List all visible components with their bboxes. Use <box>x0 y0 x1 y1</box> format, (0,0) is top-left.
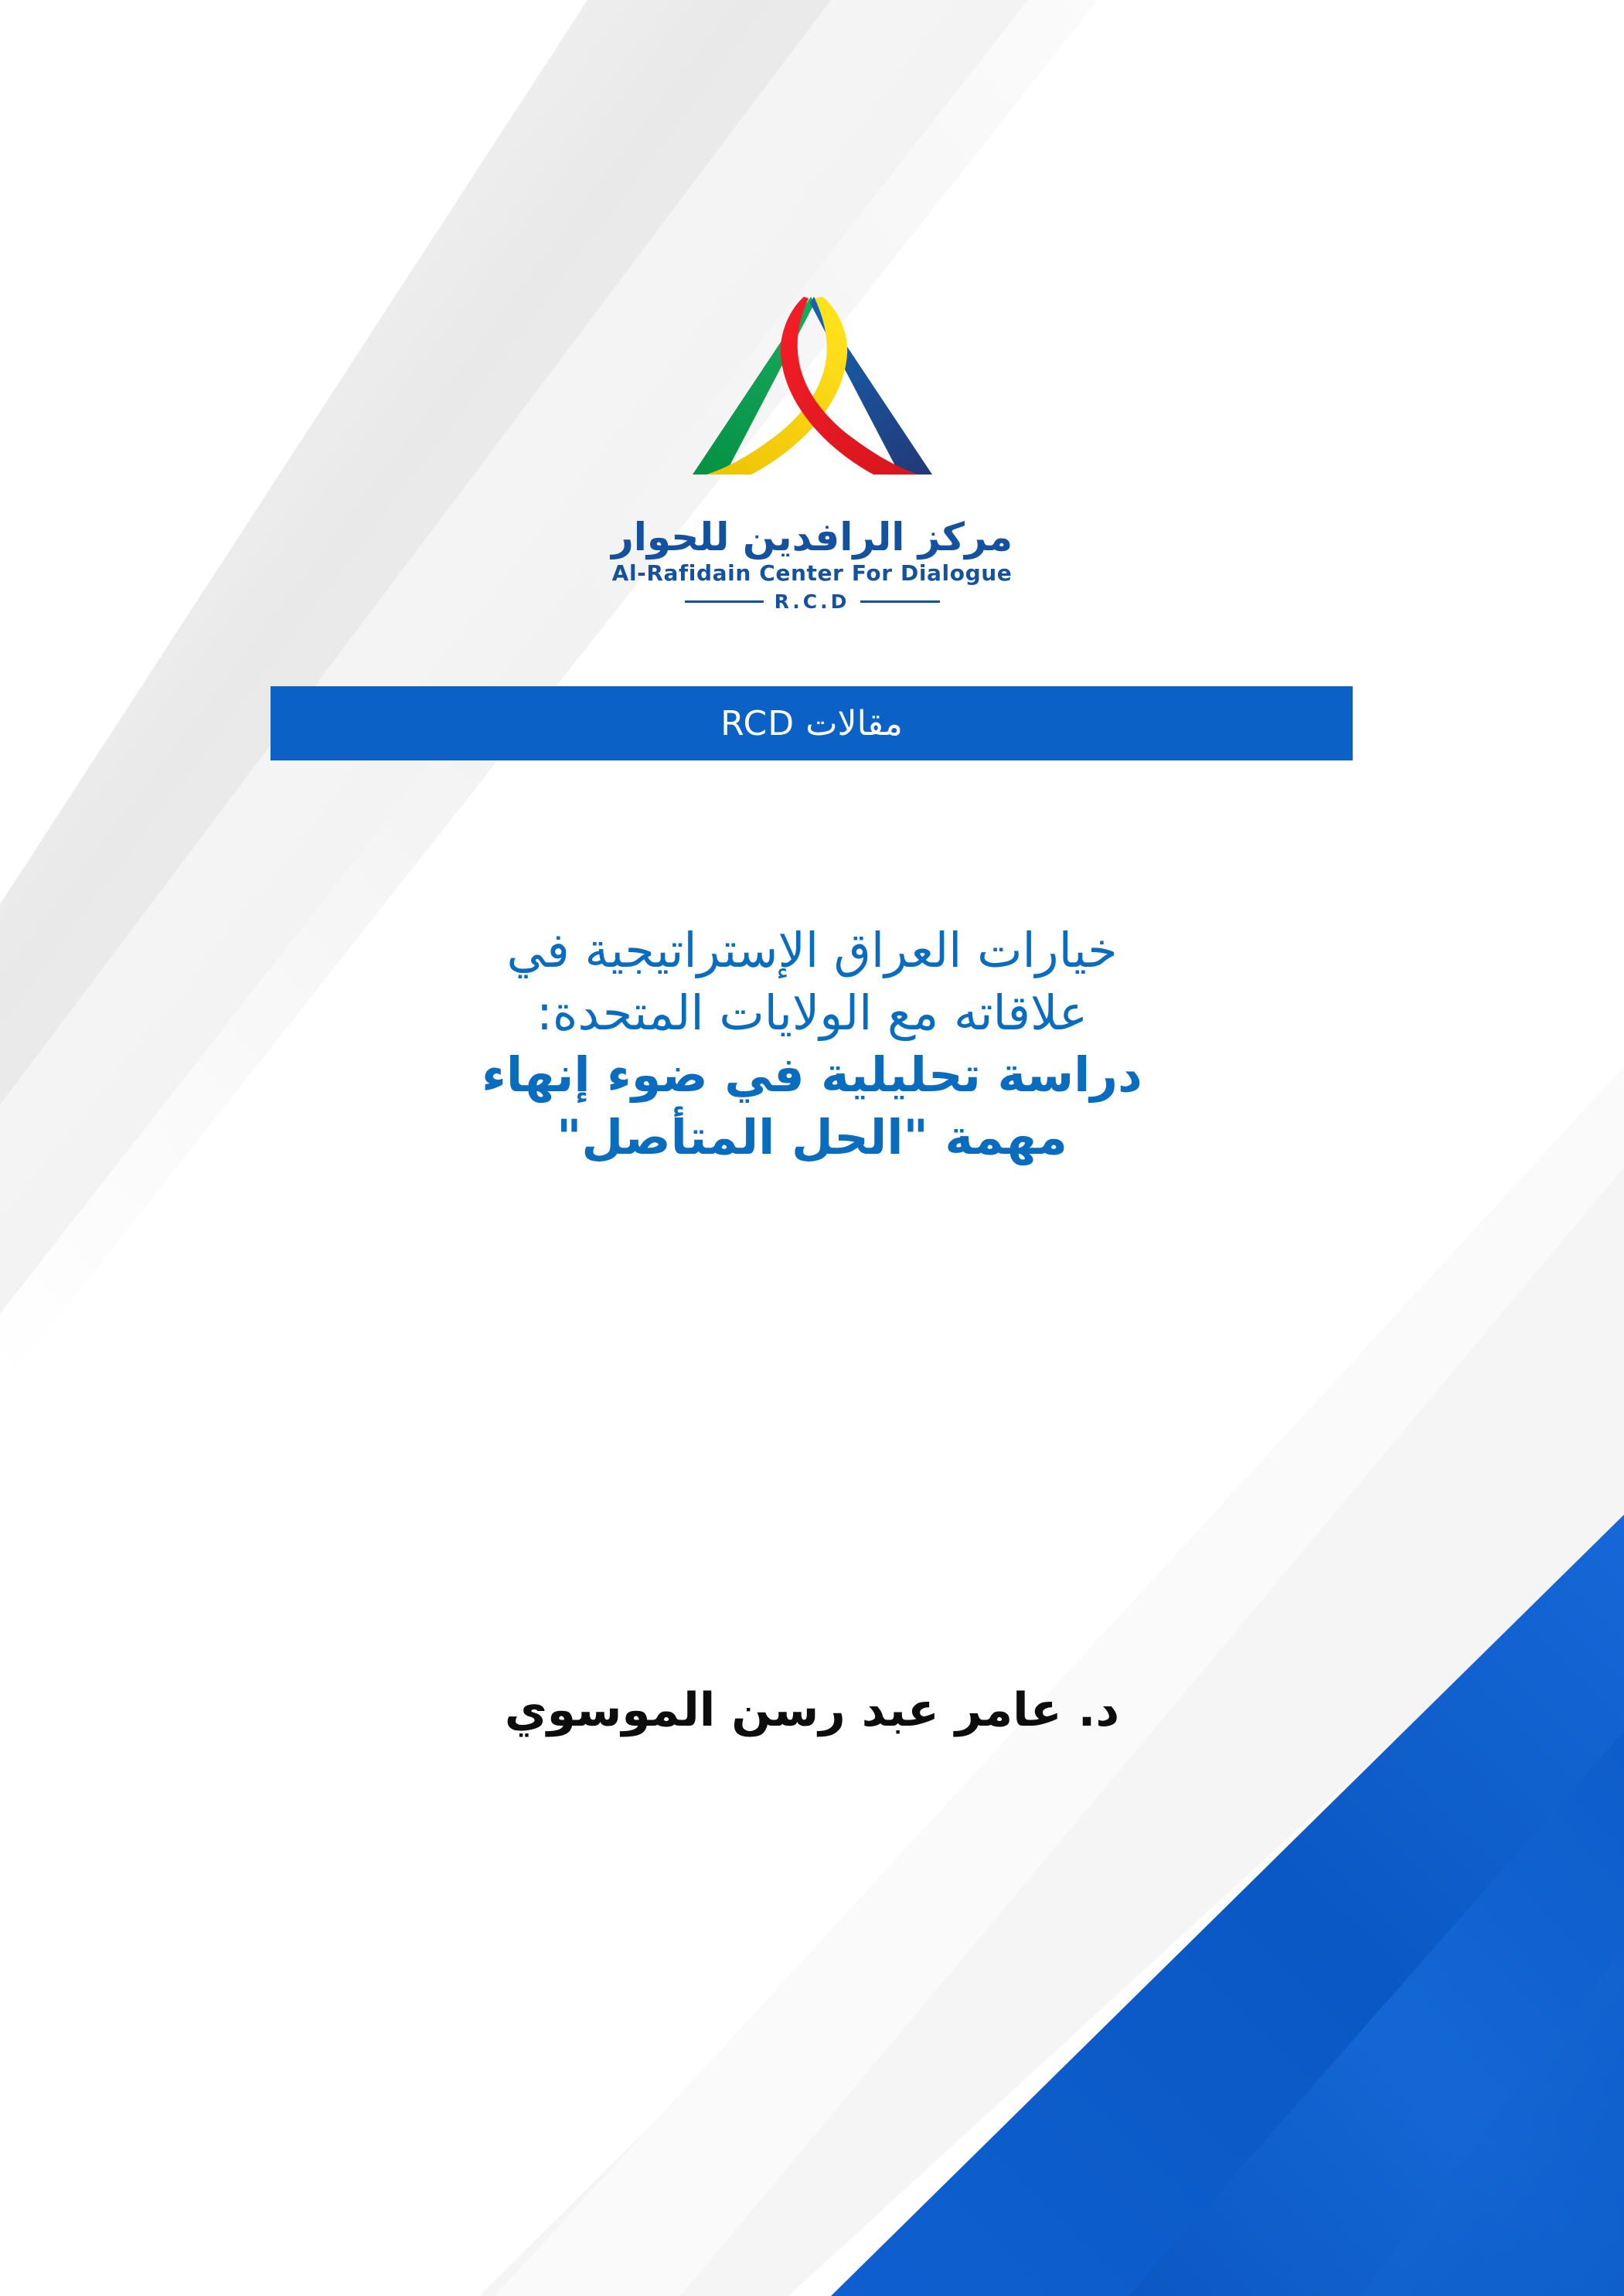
logo-arabic-name: مركز الرافدين للحوار <box>611 518 1013 556</box>
document-title: خيارات العراق الإستراتيجية في علاقاته مع… <box>255 920 1369 1168</box>
rcd-triangle-ribbon-logo-icon <box>685 283 940 515</box>
series-banner: مقالات RCD <box>271 686 1353 760</box>
title-line-1: خيارات العراق الإستراتيجية في <box>255 920 1369 982</box>
cover-page: مركز الرافدين للحوار Al-Rafidain Center … <box>0 0 1624 2296</box>
bottom-right-gray-band <box>479 1066 1624 2296</box>
logo-abbreviation-row: R.C.D <box>685 592 940 611</box>
title-line-4: مهمة "الحل المتأصل" <box>255 1107 1369 1169</box>
series-banner-label: مقالات RCD <box>720 704 903 743</box>
bottom-right-blue-bands <box>831 1515 1624 2296</box>
logo-rule-right <box>860 600 939 603</box>
logo-abbreviation: R.C.D <box>775 592 850 611</box>
author-name: د. عامر عبد رسن الموسوي <box>0 1683 1624 1737</box>
organization-logo: مركز الرافدين للحوار Al-Rafidain Center … <box>0 283 1624 611</box>
logo-english-name: Al-Rafidain Center For Dialogue <box>612 563 1013 584</box>
logo-wordmark: مركز الرافدين للحوار Al-Rafidain Center … <box>611 518 1013 611</box>
title-line-3: دراسة تحليلية في ضوء إنهاء <box>255 1044 1369 1107</box>
title-line-2: علاقاته مع الولايات المتحدة: <box>255 982 1369 1045</box>
author: د. عامر عبد رسن الموسوي <box>0 1683 1624 1737</box>
logo-rule-left <box>685 600 764 603</box>
